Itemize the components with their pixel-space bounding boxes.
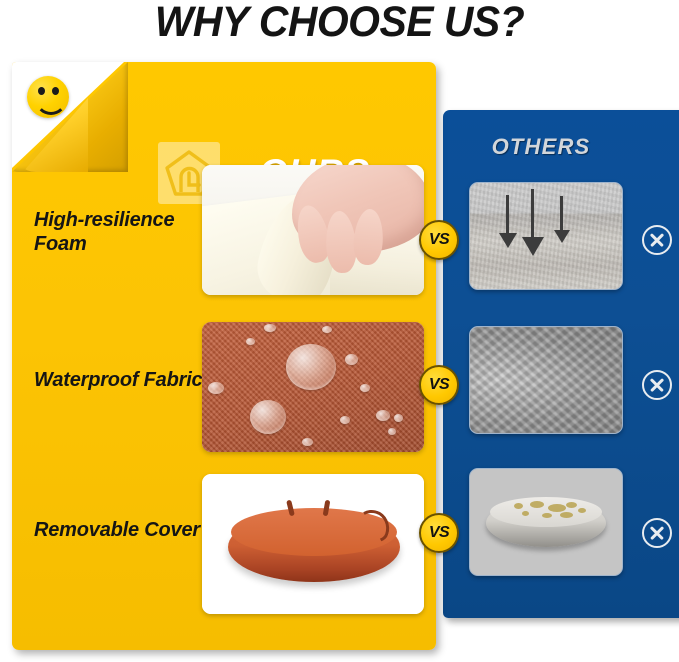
down-arrow-icon: [506, 195, 509, 235]
page-title: WHY CHOOSE US?: [17, 0, 662, 47]
stained-grey-cushion-image: [486, 499, 606, 547]
vs-badge-3: VS: [419, 513, 459, 553]
stain-mark: [522, 511, 529, 516]
ours-feature-image-2: [202, 322, 424, 452]
stain-mark: [548, 504, 566, 512]
others-feature-image-1: [469, 182, 623, 290]
water-droplet: [376, 410, 390, 421]
ours-feature-label-2: Waterproof Fabric: [34, 368, 214, 392]
water-droplet: [250, 400, 286, 434]
water-droplet: [394, 414, 403, 422]
x-circle-icon: [642, 518, 672, 548]
stain-mark: [542, 513, 552, 518]
x-circle-icon: [642, 370, 672, 400]
smiley-face-icon: [27, 76, 69, 118]
vs-badge-2: VS: [419, 365, 459, 405]
compressed-fiber-image: [470, 183, 622, 289]
others-feature-image-3: [469, 468, 623, 576]
ours-feature-image-3: [202, 474, 424, 614]
water-droplet: [208, 382, 224, 394]
water-droplet: [246, 338, 255, 345]
water-droplet: [286, 344, 336, 390]
water-droplet: [360, 384, 370, 392]
stain-mark: [578, 508, 586, 513]
x-circle-icon: [642, 225, 672, 255]
down-arrow-icon: [560, 196, 563, 232]
down-arrow-icon: [531, 189, 534, 239]
ours-feature-label-1: High-resilience Foam: [34, 208, 214, 257]
others-feature-image-2: [469, 326, 623, 434]
comparison-infographic: WHY CHOOSE US? OTHERS: [0, 0, 679, 662]
stain-mark: [514, 503, 523, 509]
ours-panel: OURS High-resilience Foam Waterproof Fab…: [12, 62, 436, 650]
stain-mark: [560, 512, 573, 518]
water-droplet: [345, 354, 358, 365]
stain-mark: [530, 501, 544, 508]
others-panel-title: OTHERS: [443, 134, 639, 160]
worn-grey-fabric-image: [470, 327, 622, 433]
water-droplet: [302, 438, 313, 446]
ours-feature-label-3: Removable Cover: [34, 518, 214, 542]
water-droplet: [264, 324, 276, 332]
water-droplet: [388, 428, 396, 435]
smiley-mouth: [35, 89, 67, 115]
water-droplet: [322, 326, 332, 333]
ours-feature-image-1: [202, 165, 424, 295]
vs-badge-1: VS: [419, 220, 459, 260]
water-droplet: [340, 416, 350, 424]
others-panel: OTHERS: [443, 110, 679, 618]
stain-mark: [566, 502, 577, 508]
